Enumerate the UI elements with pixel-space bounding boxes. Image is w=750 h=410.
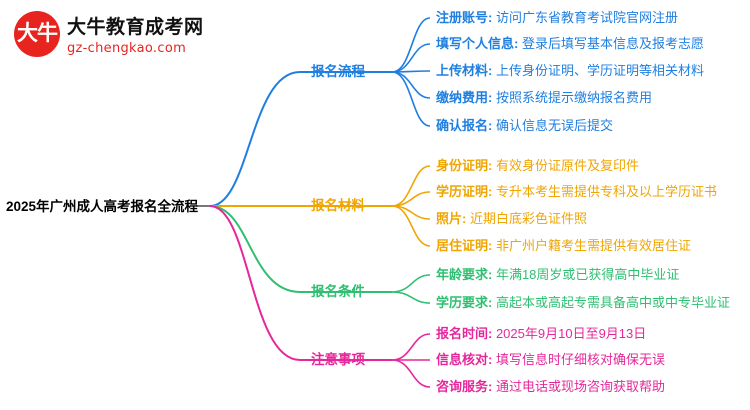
leaf-notes-1: 报名时间: 2025年9月10日至9月13日 [436, 327, 646, 340]
leaf-process-3: 上传材料: 上传身份证明、学历证明等相关材料 [436, 64, 704, 77]
leaf-process-5-text: 确认信息无误后提交 [492, 118, 613, 133]
leaf-materials-3-text: 近期白底彩色证件照 [466, 211, 587, 226]
leaf-notes-2-text: 填写信息时仔细核对确保无误 [492, 352, 665, 367]
leaf-process-1-text: 访问广东省教育考试院官网注册 [492, 10, 678, 25]
leaf-process-1-lead: 注册账号: [436, 10, 492, 25]
leaf-notes-1-text: 2025年9月10日至9月13日 [492, 326, 646, 341]
leaf-notes-2: 信息核对: 填写信息时仔细核对确保无误 [436, 353, 665, 366]
brand-text: 大牛教育成考网 gz-chengkao.com [67, 12, 204, 56]
site-watermark: 大牛 大牛教育成考网 gz-chengkao.com [14, 6, 224, 62]
leaf-conditions-1-lead: 年龄要求: [436, 267, 492, 282]
leaf-process-3-lead: 上传材料: [436, 63, 492, 78]
leaf-notes-3-lead: 咨询服务: [436, 379, 492, 394]
leaf-process-5-lead: 确认报名: [436, 118, 492, 133]
leaf-process-2: 填写个人信息: 登录后填写基本信息及报考志愿 [436, 37, 704, 50]
leaf-materials-2-lead: 学历证明: [436, 184, 492, 199]
leaf-process-4-text: 按照系统提示缴纳报名费用 [492, 90, 652, 105]
leaf-materials-2: 学历证明: 专升本考生需提供专科及以上学历证书 [436, 185, 717, 198]
branch-label-notes: 注意事项 [311, 353, 365, 367]
brand-title: 大牛教育成考网 [67, 12, 204, 39]
leaf-process-4-lead: 缴纳费用: [436, 90, 492, 105]
branch-label-registration-materials: 报名材料 [311, 199, 365, 213]
leaf-process-5: 确认报名: 确认信息无误后提交 [436, 119, 613, 132]
leaf-conditions-2-lead: 学历要求: [436, 295, 492, 310]
leaf-conditions-2-text: 高起本或高起专需具备高中或中专毕业证 [492, 295, 730, 310]
leaf-process-1: 注册账号: 访问广东省教育考试院官网注册 [436, 11, 678, 24]
leaf-materials-3-lead: 照片: [436, 211, 466, 226]
leaf-conditions-1: 年龄要求: 年满18周岁或已获得高中毕业证 [436, 268, 679, 281]
leaf-materials-1: 身份证明: 有效身份证原件及复印件 [436, 159, 639, 172]
leaf-process-3-text: 上传身份证明、学历证明等相关材料 [492, 63, 704, 78]
leaf-materials-4-text: 非广州户籍考生需提供有效居住证 [492, 238, 691, 253]
brand-url: gz-chengkao.com [67, 41, 204, 56]
leaf-materials-1-lead: 身份证明: [436, 158, 492, 173]
leaf-materials-2-text: 专升本考生需提供专科及以上学历证书 [492, 184, 717, 199]
leaf-notes-1-lead: 报名时间: [436, 326, 492, 341]
mindmap-root-node: 2025年广州成人高考报名全流程 [6, 200, 198, 214]
leaf-notes-3: 咨询服务: 通过电话或现场咨询获取帮助 [436, 380, 665, 393]
leaf-process-2-text: 登录后填写基本信息及报考志愿 [518, 36, 704, 51]
leaf-materials-1-text: 有效身份证原件及复印件 [492, 158, 639, 173]
leaf-materials-3: 照片: 近期白底彩色证件照 [436, 212, 587, 225]
leaf-notes-2-lead: 信息核对: [436, 352, 492, 367]
branch-label-registration-conditions: 报名条件 [311, 285, 365, 299]
leaf-process-2-lead: 填写个人信息: [436, 36, 518, 51]
leaf-conditions-2: 学历要求: 高起本或高起专需具备高中或中专毕业证 [436, 296, 730, 309]
leaf-materials-4: 居住证明: 非广州户籍考生需提供有效居住证 [436, 239, 691, 252]
brand-logo-icon: 大牛 [14, 11, 60, 57]
branch-label-registration-process: 报名流程 [311, 65, 365, 79]
leaf-materials-4-lead: 居住证明: [436, 238, 492, 253]
leaf-notes-3-text: 通过电话或现场咨询获取帮助 [492, 379, 665, 394]
leaf-process-4: 缴纳费用: 按照系统提示缴纳报名费用 [436, 91, 652, 104]
leaf-conditions-1-text: 年满18周岁或已获得高中毕业证 [492, 267, 679, 282]
